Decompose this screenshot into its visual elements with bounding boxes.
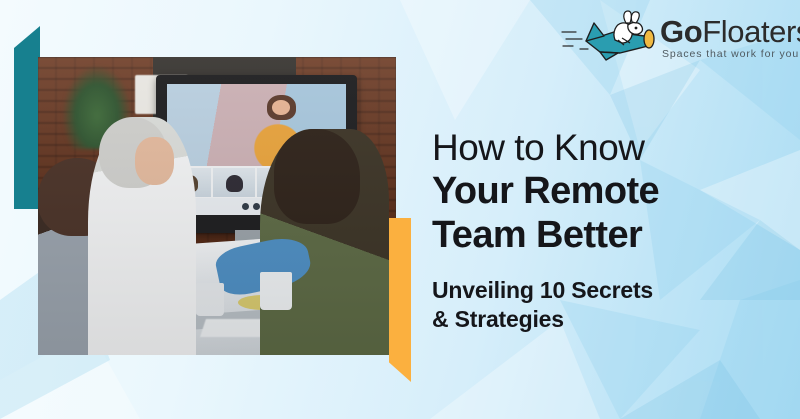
hero-photo bbox=[38, 57, 396, 355]
photo-overlay bbox=[38, 57, 396, 355]
brand-logo[interactable]: GoFloaters Spaces that work for you bbox=[560, 8, 790, 66]
logo-wordmark: GoFloaters bbox=[660, 16, 800, 47]
page-title: How to Know Your Remote Team Better bbox=[432, 128, 772, 256]
logo-wordmark-light: Floaters bbox=[702, 14, 800, 49]
subtitle-line-1: Unveiling 10 Secrets bbox=[432, 276, 762, 305]
blog-banner: GoFloaters Spaces that work for you How … bbox=[0, 0, 800, 419]
rabbit-riding-paper-plane-icon bbox=[560, 8, 660, 64]
logo-tagline: Spaces that work for you bbox=[662, 48, 799, 60]
page-subtitle: Unveiling 10 Secrets & Strategies bbox=[432, 276, 762, 335]
subtitle-line-2: & Strategies bbox=[432, 305, 762, 334]
headline-line-1: How to Know bbox=[432, 128, 772, 168]
left-accent-bar bbox=[14, 26, 40, 209]
headline-line-2: Your Remote bbox=[432, 171, 772, 212]
headline-line-3: Team Better bbox=[432, 215, 772, 256]
right-accent-bar bbox=[389, 218, 411, 382]
logo-wordmark-bold: Go bbox=[660, 14, 702, 49]
